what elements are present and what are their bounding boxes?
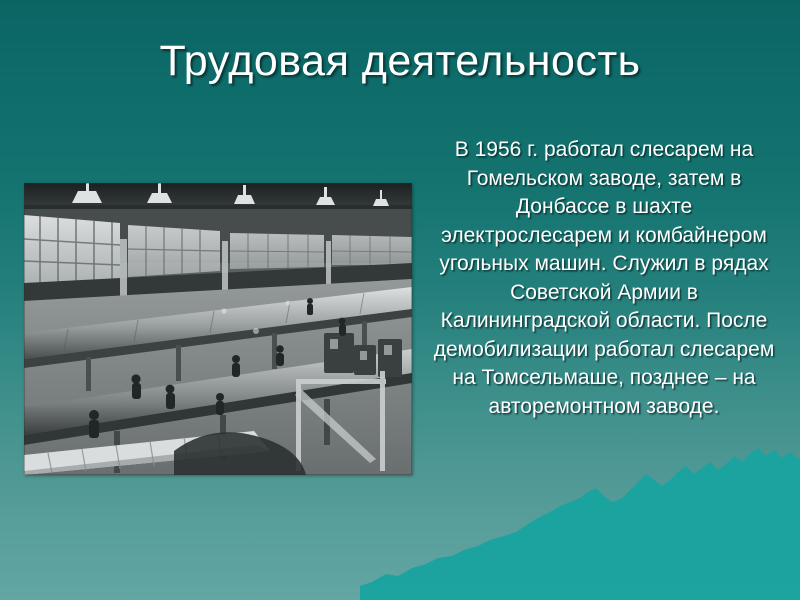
slide-body-text: В 1956 г. работал слесарем на Гомельском… <box>428 136 780 421</box>
slide-title: Трудовая деятельность <box>0 36 800 86</box>
factory-photo <box>24 183 412 475</box>
slide-canvas: Трудовая деятельность <box>0 0 800 600</box>
mountain-silhouette-decoration <box>360 440 800 600</box>
